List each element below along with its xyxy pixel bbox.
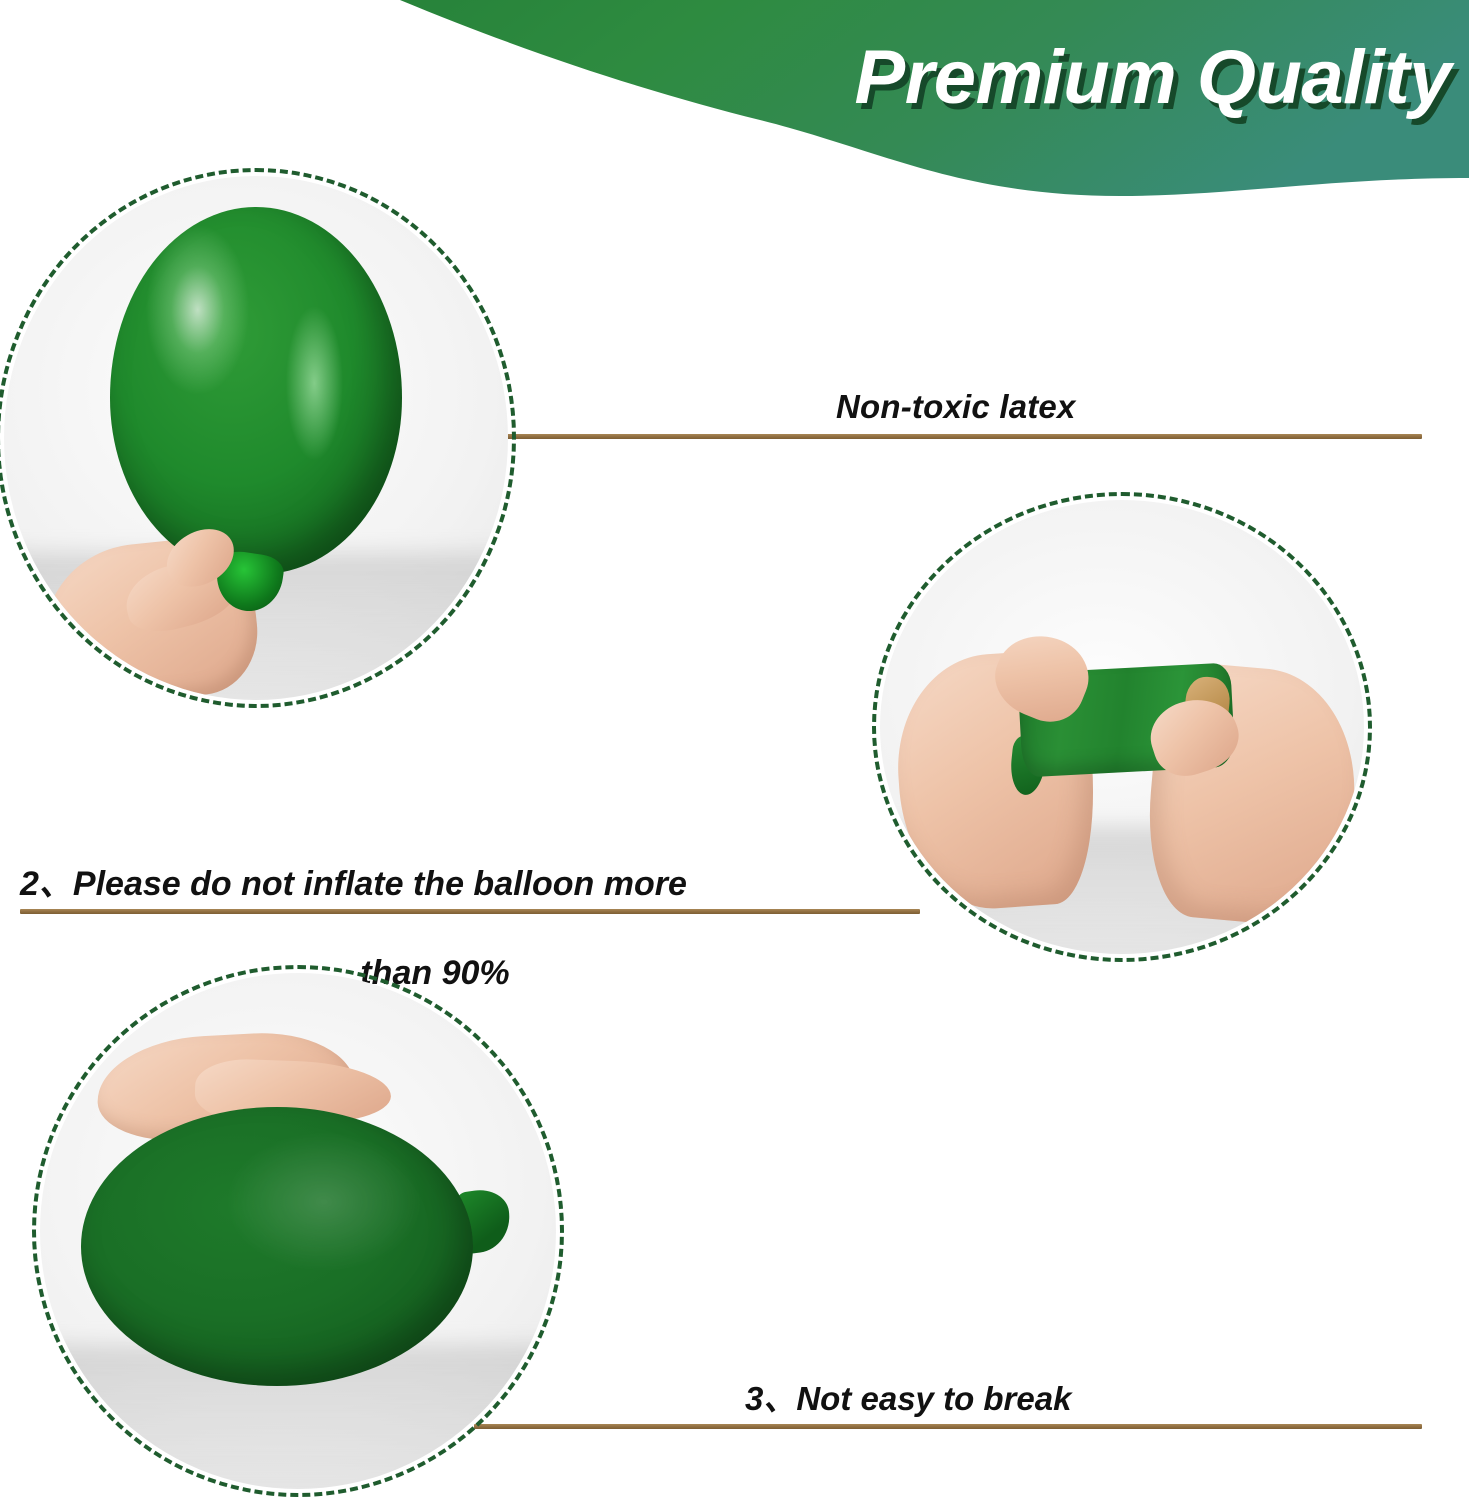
caption-line-1: 2、Please do not inflate the balloon more [20,862,850,906]
caption-rule-3 [474,1424,1422,1429]
product-infographic: Premium Quality [0,0,1469,1500]
feature-photo-not-easy-to-break [32,965,564,1497]
feature-caption-not-easy-to-break: 3、Not easy to break [745,1372,1071,1420]
feature-photo-non-toxic-latex [0,168,516,708]
dashed-circle-border [32,965,564,1497]
page-title: Premium Quality [855,34,1451,121]
dashed-circle-border [872,492,1372,962]
feature-caption-non-toxic-latex: Non-toxic latex [836,388,1076,426]
dashed-circle-border [0,168,516,708]
feature-photo-do-not-over-inflate [872,492,1372,962]
caption-rule-2 [20,909,920,914]
caption-rule-1 [466,434,1422,439]
